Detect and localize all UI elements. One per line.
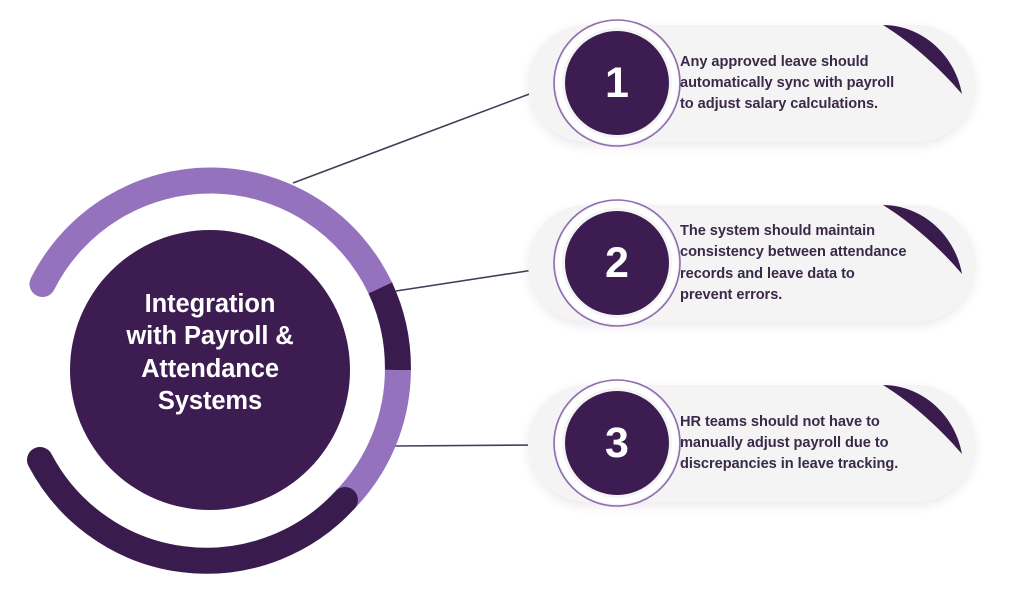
- card-3-text: HR teams should not have to manually adj…: [680, 385, 962, 502]
- card-1-text-line-1: Any approved leave should: [680, 52, 962, 73]
- card-2-text-line-1: The system should maintain: [680, 221, 962, 242]
- info-card-2[interactable]: 2 The system should maintain consistency…: [528, 205, 975, 322]
- card-3-badge: [550, 376, 684, 510]
- card-2-text-line-2: consistency between attendance: [680, 242, 962, 263]
- card-1-text-line-2: automatically sync with payroll: [680, 73, 962, 94]
- card-2-text-line-4: prevent errors.: [680, 285, 962, 306]
- connector-line-2: [396, 269, 540, 291]
- card-1-badge: [550, 16, 684, 150]
- card-1-text-line-3: to adjust salary calculations.: [680, 94, 962, 115]
- card-3-text-line-2: manually adjust payroll due to: [680, 433, 962, 454]
- card-2-badge: [550, 196, 684, 330]
- connector-line-1: [293, 90, 540, 183]
- card-2-text: The system should maintain consistency b…: [680, 205, 962, 322]
- connector-line-3: [395, 445, 540, 446]
- card-1-text: Any approved leave should automatically …: [680, 25, 962, 142]
- infographic-root: Integration with Payroll & Attendance Sy…: [0, 0, 1024, 597]
- info-card-3[interactable]: 3 HR teams should not have to manually a…: [528, 385, 975, 502]
- ring-segment-dark-right: [380, 288, 398, 370]
- card-3-text-line-1: HR teams should not have to: [680, 412, 962, 433]
- infographic-stage: Integration with Payroll & Attendance Sy…: [0, 0, 1024, 597]
- card-2-text-line-3: records and leave data to: [680, 264, 962, 285]
- hub-core-circle: [70, 230, 350, 510]
- info-card-1[interactable]: 1 Any approved leave should automaticall…: [528, 25, 975, 142]
- card-3-text-line-3: discrepancies in leave tracking.: [680, 454, 962, 475]
